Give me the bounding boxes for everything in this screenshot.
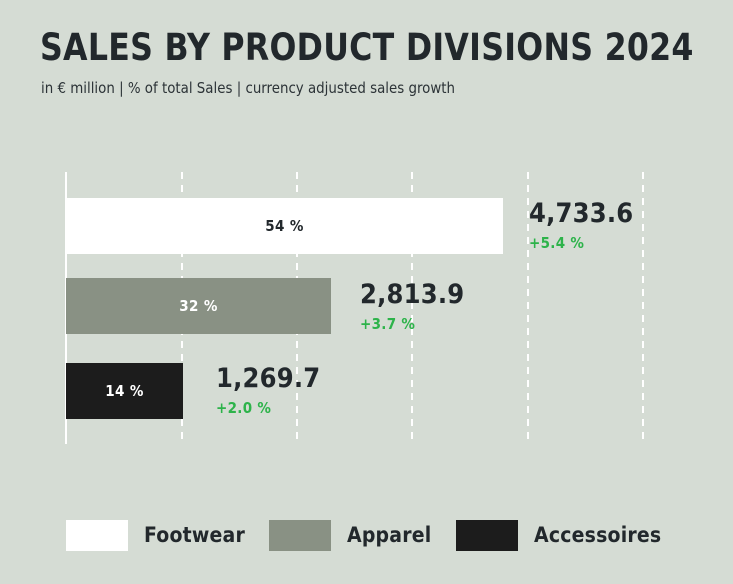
bar-share-label-footwear: 54 % xyxy=(265,217,304,235)
bar-apparel[interactable]: 32 % xyxy=(66,278,331,334)
bar-growth-footwear: +5.4 % xyxy=(529,236,633,251)
legend-label-apparel: Apparel xyxy=(347,523,431,547)
bar-growth-accessoires: +2.0 % xyxy=(216,401,320,416)
value-group-footwear: 4,733.6 +5.4 % xyxy=(529,200,633,251)
legend-swatch-apparel-icon xyxy=(269,520,331,551)
value-group-accessoires: 1,269.7 +2.0 % xyxy=(216,365,320,416)
bar-growth-apparel: +3.7 % xyxy=(360,317,464,332)
bar-share-label-apparel: 32 % xyxy=(179,297,218,315)
bar-footwear[interactable]: 54 % xyxy=(66,198,503,254)
legend-item-footwear[interactable]: Footwear xyxy=(66,515,245,555)
plot-area: 54 % 4,733.6 +5.4 % 32 % 2,813.9 +3.7 % … xyxy=(0,0,733,584)
legend-item-accessoires[interactable]: Accessoires xyxy=(456,515,661,555)
gridline-5 xyxy=(642,172,644,444)
bar-value-accessoires: 1,269.7 xyxy=(216,365,320,392)
bar-value-footwear: 4,733.6 xyxy=(529,200,633,227)
legend-label-footwear: Footwear xyxy=(144,523,245,547)
legend-swatch-accessoires-icon xyxy=(456,520,518,551)
legend-item-apparel[interactable]: Apparel xyxy=(269,515,431,555)
chart-legend: Footwear Apparel Accessoires xyxy=(0,515,733,555)
value-group-apparel: 2,813.9 +3.7 % xyxy=(360,281,464,332)
bar-accessoires[interactable]: 14 % xyxy=(66,363,183,419)
legend-swatch-footwear-icon xyxy=(66,520,128,551)
bar-share-label-accessoires: 14 % xyxy=(105,382,144,400)
legend-label-accessoires: Accessoires xyxy=(534,523,661,547)
bar-value-apparel: 2,813.9 xyxy=(360,281,464,308)
chart-page: SALES BY PRODUCT DIVISIONS 2024 in € mil… xyxy=(0,0,733,584)
